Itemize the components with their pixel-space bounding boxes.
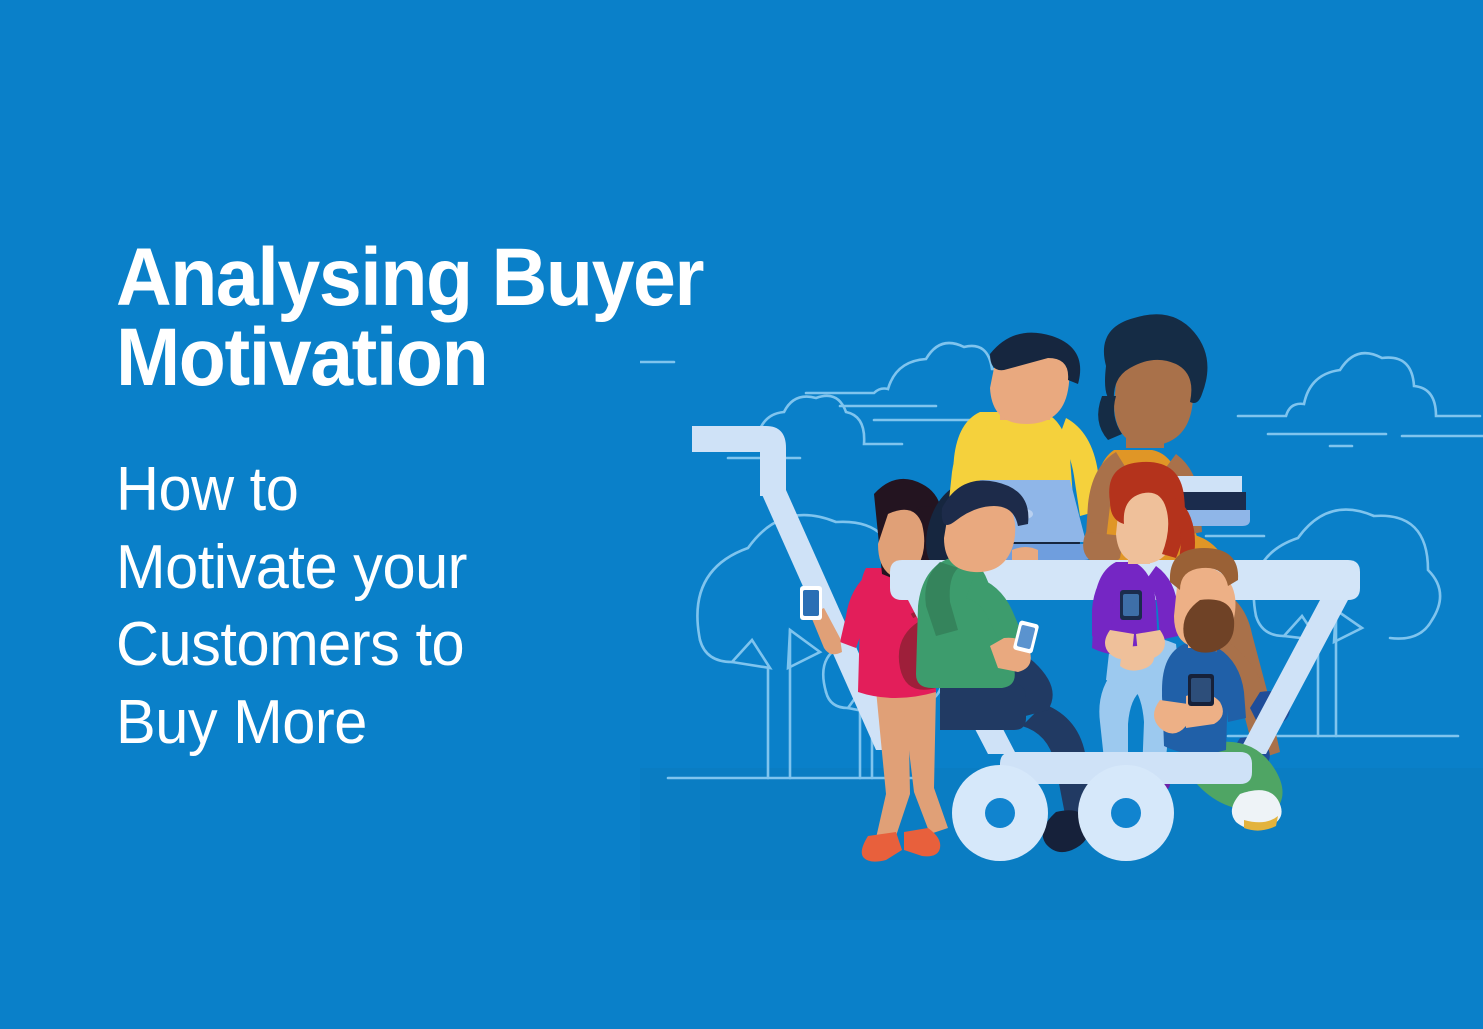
cloud-right-icon: [1238, 353, 1483, 446]
cart-handle: [692, 426, 786, 496]
shopping-cart-illustration: [640, 300, 1483, 920]
hero-banner: Analysing Buyer Motivation How to Motiva…: [0, 0, 1483, 1029]
